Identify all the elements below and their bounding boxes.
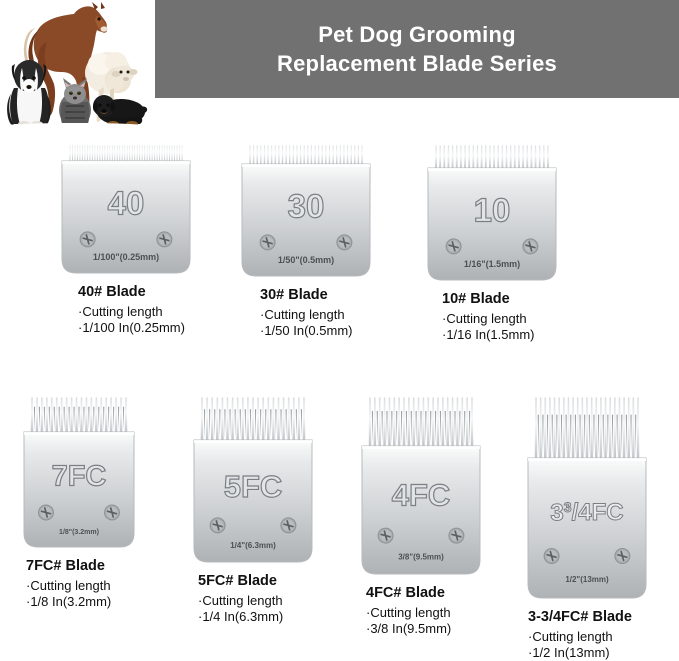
engraved-spec: 1/4"(6.3mm) [230, 541, 276, 550]
blade-illustration-7FC: 7FC 1/8"(3.2mm) [20, 390, 138, 551]
svg-text:30: 30 [288, 188, 325, 225]
blade-spec-cutting-length-value: ·1/2 In(13mm) [528, 645, 650, 661]
blade-spec-cutting-length-value: ·1/50 In(0.5mm) [260, 323, 374, 339]
blade-spec-cutting-length-label: ·Cutting length [260, 307, 374, 323]
page-header: Pet Dog Grooming Replacement Blade Serie… [0, 0, 679, 130]
blade-card-7fcblade[interactable]: 7FC 1/8"(3.2mm) 7FC# Blade·Cutting lengt… [20, 390, 138, 610]
blade-spec-cutting-length-label: ·Cutting length [78, 304, 194, 320]
animal-collage-svg [0, 2, 152, 128]
blade-caption: 7FC# Blade·Cutting length·1/8 In(3.2mm) [26, 558, 138, 610]
engraved-spec: 1/100"(0.25mm) [93, 252, 159, 262]
blade-spec-cutting-length-label: ·Cutting length [198, 593, 316, 609]
blade-image: 40 1/100"(0.25mm) [58, 138, 194, 277]
blade-caption: 5FC# Blade·Cutting length·1/4 In(6.3mm) [198, 573, 316, 625]
blade-image: 10 1/16"(1.5mm) [424, 138, 560, 284]
blade-illustration-5FC: 5FC 1/4"(6.3mm) [190, 390, 316, 566]
blade-illustration-40: 40 1/100"(0.25mm) [58, 138, 194, 277]
blade-spec-cutting-length-value: ·3/8 In(9.5mm) [366, 621, 484, 637]
svg-text:40: 40 [108, 185, 145, 222]
blade-image: 30 1/50"(0.5mm) [238, 138, 374, 280]
blade-title: 5FC# Blade [198, 573, 316, 589]
blade-image: 4FC 3/8"(9.5mm) [358, 390, 484, 578]
blade-title: 10# Blade [442, 291, 560, 307]
blade-row-2: 7FC 1/8"(3.2mm) 7FC# Blade·Cutting lengt… [0, 390, 679, 610]
blade-image: 5FC 1/4"(6.3mm) [190, 390, 316, 566]
blade-card-10blade[interactable]: 10 1/16"(1.5mm) 10# Blade·Cutting length… [424, 138, 560, 343]
svg-text:33/4FC: 33/4FC [550, 499, 623, 527]
blade-card-5fcblade[interactable]: 5FC 1/4"(6.3mm) 5FC# Blade·Cutting lengt… [190, 390, 316, 625]
blade-spec-cutting-length-label: ·Cutting length [26, 578, 138, 594]
blade-card-334fcblade[interactable]: 33/4FC 1/2"(13mm) 3-3/4FC# Blade·Cutting… [524, 390, 650, 661]
svg-text:10: 10 [474, 192, 511, 229]
blade-illustration-10: 10 1/16"(1.5mm) [424, 138, 560, 284]
border-collie-figure [7, 60, 51, 127]
blade-caption: 30# Blade·Cutting length·1/50 In(0.5mm) [260, 287, 374, 339]
animal-collage-image [0, 2, 152, 128]
rottweiler-figure [93, 95, 147, 127]
blade-card-40blade[interactable]: 40 1/100"(0.25mm) 40# Blade·Cutting leng… [58, 138, 194, 336]
blade-spec-cutting-length-value: ·1/8 In(3.2mm) [26, 594, 138, 610]
blade-spec-cutting-length-label: ·Cutting length [366, 605, 484, 621]
blade-title: 4FC# Blade [366, 585, 484, 601]
blade-image: 7FC 1/8"(3.2mm) [20, 390, 138, 551]
blade-card-4fcblade[interactable]: 4FC 3/8"(9.5mm) 4FC# Blade·Cutting lengt… [358, 390, 484, 637]
engraved-spec: 3/8"(9.5mm) [398, 552, 444, 561]
blade-caption: 40# Blade·Cutting length·1/100 In(0.25mm… [78, 284, 194, 336]
blade-spec-cutting-length-label: ·Cutting length [442, 311, 560, 327]
blade-illustration-3FC: 33/4FC 1/2"(13mm) [524, 390, 650, 602]
blade-spec-cutting-length-label: ·Cutting length [528, 629, 650, 645]
blade-title: 7FC# Blade [26, 558, 138, 574]
blade-title: 40# Blade [78, 284, 194, 300]
blade-illustration-30: 30 1/50"(0.5mm) [238, 138, 374, 280]
blade-spec-cutting-length-value: ·1/100 In(0.25mm) [78, 320, 194, 336]
page-title: Pet Dog Grooming Replacement Blade Serie… [155, 0, 679, 98]
blade-illustration-4FC: 4FC 3/8"(9.5mm) [358, 390, 484, 578]
blade-caption: 4FC# Blade·Cutting length·3/8 In(9.5mm) [366, 585, 484, 637]
engraved-spec: 1/8"(3.2mm) [59, 529, 99, 536]
svg-text:4FC: 4FC [392, 477, 451, 512]
blade-row-1: 40 1/100"(0.25mm) 40# Blade·Cutting leng… [0, 138, 679, 368]
page-title-line-2: Replacement Blade Series [277, 49, 557, 78]
engraved-spec: 1/2"(13mm) [565, 575, 609, 584]
blade-card-30blade[interactable]: 30 1/50"(0.5mm) 30# Blade·Cutting length… [238, 138, 374, 339]
blade-image: 33/4FC 1/2"(13mm) [524, 390, 650, 602]
svg-text:5FC: 5FC [224, 469, 283, 504]
blade-title: 30# Blade [260, 287, 374, 303]
blade-spec-cutting-length-value: ·1/16 In(1.5mm) [442, 327, 560, 343]
blade-title: 3-3/4FC# Blade [528, 609, 650, 625]
header-banner: Pet Dog Grooming Replacement Blade Serie… [155, 0, 679, 98]
engraved-spec: 1/16"(1.5mm) [464, 259, 520, 269]
blade-caption: 10# Blade·Cutting length·1/16 In(1.5mm) [442, 291, 560, 343]
page-title-line-1: Pet Dog Grooming [318, 20, 516, 49]
svg-text:7FC: 7FC [52, 461, 107, 493]
engraved-spec: 1/50"(0.5mm) [278, 255, 334, 265]
blade-spec-cutting-length-value: ·1/4 In(6.3mm) [198, 609, 316, 625]
blade-caption: 3-3/4FC# Blade·Cutting length·1/2 In(13m… [528, 609, 650, 661]
